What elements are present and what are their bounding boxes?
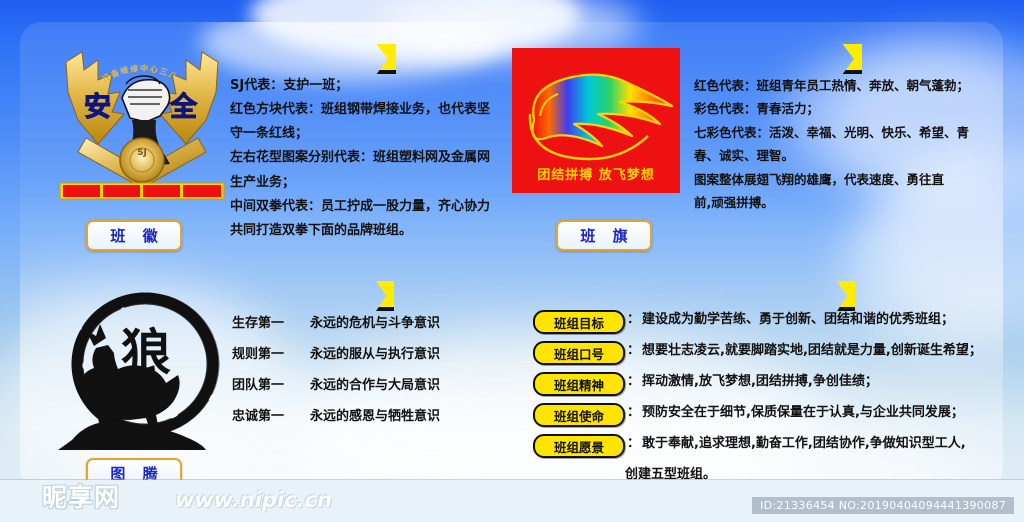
totem-row-key: 生存第一 [232,312,310,331]
totem-svg: 狼 [58,288,233,453]
totem-row-value: 永远的危机与斗争意识 [310,312,440,331]
flag-caption: 班 旗 [556,220,652,251]
flag-slogan: 团结拼搏 放飞梦想 [512,164,680,183]
emblem-badge-center: SJ [137,148,147,158]
totem-graphic: 狼 [58,288,233,453]
culture-row-value: 挥动激情,放飞梦想,团结拼搏,争创佳绩； [642,372,878,392]
totem-row: 生存第一 永远的危机与斗争意识 [232,312,440,331]
totem-row-value: 永远的合作与大局意识 [310,374,440,393]
body-line: 前,顽强拼搏。 [694,193,969,212]
culture-row: 班组精神 ： 挥动激情,放飞梦想,团结拼搏,争创佳绩； [533,372,1003,396]
totem-row-value: 永远的服从与执行意识 [310,343,440,362]
body-line: 春、诚实、理智。 [694,146,969,165]
body-line: 生产业务； [230,173,490,193]
emblem-char-right: 全 [169,91,198,123]
totem-row-key: 团队第一 [232,374,310,393]
emblem-caption: 班 徽 [86,220,182,251]
watermark-url: www.nipic.cn [175,488,332,512]
body-line: 红色方块代表：班组钢带焊接业务，也代表坚 [230,100,490,120]
culture-row-colon: ： [625,403,642,423]
body-line: 彩色代表：青春活力； [694,99,969,118]
culture-row-value: 想要壮志凌云,就要脚踏实地,团结就是力量,创新诞生希望； [642,341,982,361]
culture-row-value: 预防安全在于细节,保质保量在于认真,与企业共同发展； [642,403,964,423]
totem-row-key: 忠诚第一 [232,405,310,424]
culture-row-colon: ： [625,372,642,392]
emblem-svg: 设备维修中心三八 安 全 SJ [52,42,232,207]
culture-row-label: 班组口号 [533,341,625,365]
totem-row: 忠诚第一 永远的感恩与牺牲意识 [232,405,440,424]
cloud [200,22,500,82]
section-body-banhui: SJ代表：支护一班； 红色方块代表：班组钢带焊接业务，也代表坚 守一条红线； 左… [230,76,490,245]
image-id-tag: ID:21336454 NO:20190404094441390087 [752,497,1014,514]
body-line: 七彩色代表：活泼、幸福、光明、快乐、希望、青 [694,123,969,142]
watermark-logo: 昵享网 [42,478,120,514]
poster-canvas: 设备维修中心三八 安 全 SJ [0,0,1024,522]
body-line: 图案整体展翅飞翔的雄鹰，代表速度、勇往直 [694,170,969,189]
culture-row-label: 班组目标 [533,310,625,334]
culture-row-label: 班组精神 [533,372,625,396]
class-emblem-graphic: 设备维修中心三八 安 全 SJ [52,42,232,207]
section-body-banqi: 红色代表：班组青年员工热情、奔放、朝气蓬勃； 彩色代表：青春活力； 七彩色代表：… [694,76,969,216]
totem-row-value: 永远的感恩与牺牲意识 [310,405,440,424]
culture-row: 班组愿景 ： 敢于奉献,追求理想,勤奋工作,团结协作,争做知识型工人, [533,434,1003,458]
culture-row: 班组目标 ： 建设成为勤学苦练、勇于创新、团结和谐的优秀班组； [533,310,1003,334]
culture-row-colon: ： [625,341,642,361]
culture-row-label: 班组使命 [533,403,625,427]
totem-row: 规则第一 永远的服从与执行意识 [232,343,440,362]
body-line: 守一条红线； [230,124,490,144]
body-line: 中间双拳代表：员工拧成一股力量，齐心协力 [230,197,490,217]
culture-row-colon: ： [625,310,642,330]
class-flag-graphic: 团结拼搏 放飞梦想 [512,48,680,193]
culture-row-colon: ： [625,434,642,454]
body-line: 红色代表：班组青年员工热情、奔放、朝气蓬勃； [694,76,969,95]
culture-row-value: 建设成为勤学苦练、勇于创新、团结和谐的优秀班组； [642,310,954,330]
culture-row: 班组使命 ： 预防安全在于细节,保质保量在于认真,与企业共同发展； [533,403,1003,427]
body-line: 共同打造双拳下面的品牌班组。 [230,221,490,241]
culture-row-value: 敢于奉献,追求理想,勤奋工作,团结协作,争做知识型工人, [642,434,966,454]
emblem-char-left: 安 [84,92,111,123]
totem-row: 团队第一 永远的合作与大局意识 [232,374,440,393]
culture-list: 班组目标 ： 建设成为勤学苦练、勇于创新、团结和谐的优秀班组； 班组口号 ： 想… [533,310,1003,485]
body-line: 左右花型图案分别代表：班组塑料网及金属网 [230,148,490,168]
culture-row-label: 班组愿景 [533,434,625,458]
totem-meaning-list: 生存第一 永远的危机与斗争意识 规则第一 永远的服从与执行意识 团队第一 永远的… [232,312,440,436]
totem-row-key: 规则第一 [232,343,310,362]
body-line: SJ代表：支护一班； [230,76,490,96]
culture-row: 班组口号 ： 想要壮志凌云,就要脚踏实地,团结就是力量,创新诞生希望； [533,341,1003,365]
